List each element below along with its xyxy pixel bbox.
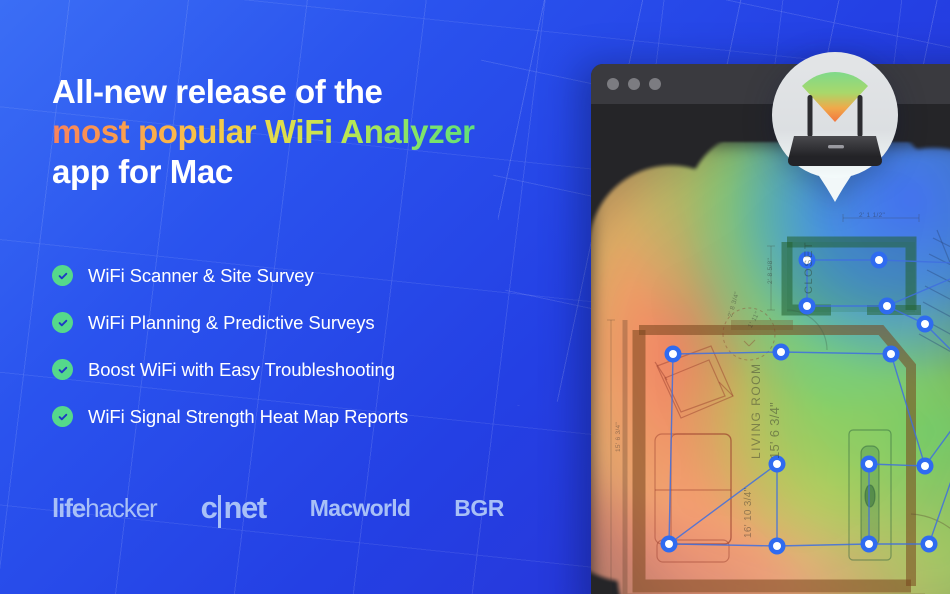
traffic-light-minimize-icon[interactable] (628, 78, 640, 90)
router-antenna-right (858, 95, 863, 137)
dimension-label: 2' 1 1/2" (859, 212, 885, 219)
check-circle-icon (52, 359, 73, 380)
dimension-label: 16' 10 3/4" (743, 488, 754, 538)
dimension-label: 15' 6 3/4" (767, 402, 782, 459)
page-headline: All-new release of the most popular WiFi… (52, 72, 552, 192)
promo-canvas: All-new release of the most popular WiFi… (0, 0, 950, 594)
headline-line-2-gradient: most popular WiFi Analyzer (52, 113, 475, 150)
check-circle-icon (52, 312, 73, 333)
feature-label: WiFi Signal Strength Heat Map Reports (88, 406, 408, 428)
check-circle-icon (52, 265, 73, 286)
router-icon (788, 136, 882, 166)
feature-list: WiFi Scanner & Site Survey WiFi Planning… (52, 252, 590, 440)
router-location-pin[interactable] (762, 42, 908, 212)
dimension-label: 2' 8 5/8" (767, 258, 774, 284)
feature-label: WiFi Scanner & Site Survey (88, 265, 314, 287)
headline-line-1: All-new release of the (52, 73, 382, 110)
feature-label: Boost WiFi with Easy Troubleshooting (88, 359, 395, 381)
room-label-closet: CLOSET (803, 241, 815, 294)
list-item: WiFi Planning & Predictive Surveys (52, 299, 590, 346)
router-antenna-left (808, 95, 813, 137)
room-label-living-room: LIVING ROOM (749, 362, 763, 459)
list-item: WiFi Signal Strength Heat Map Reports (52, 393, 590, 440)
check-circle-icon (52, 406, 73, 427)
traffic-light-close-icon[interactable] (607, 78, 619, 90)
left-content-column: All-new release of the most popular WiFi… (0, 0, 590, 594)
feature-label: WiFi Planning & Predictive Surveys (88, 312, 375, 334)
dimension-label: 15' 6 3/4" (615, 422, 622, 452)
list-item: WiFi Scanner & Site Survey (52, 252, 590, 299)
list-item: Boost WiFi with Easy Troubleshooting (52, 346, 590, 393)
traffic-light-zoom-icon[interactable] (649, 78, 661, 90)
headline-line-3: app for Mac (52, 153, 233, 190)
